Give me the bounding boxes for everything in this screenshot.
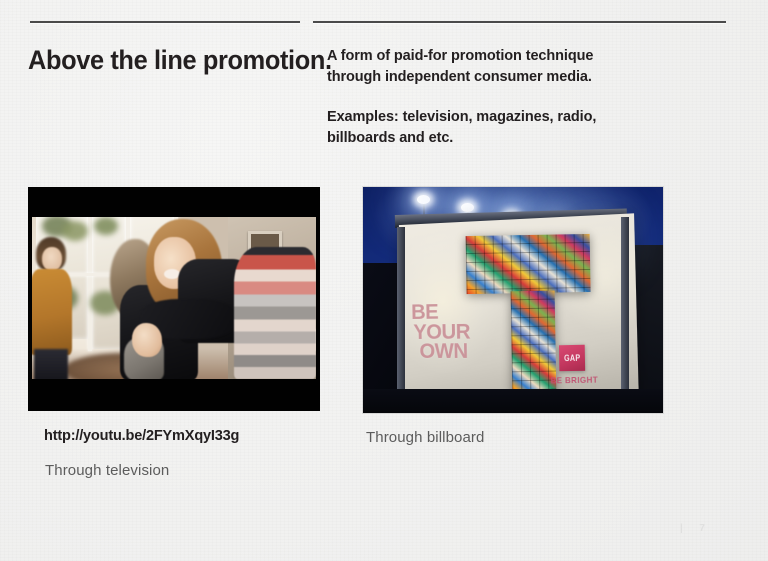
street-ground — [363, 389, 663, 413]
clothing-letter-t — [466, 234, 593, 396]
living-room-scene — [28, 187, 320, 411]
letterbox-bar-bottom — [28, 379, 320, 411]
window-mullion — [88, 205, 92, 351]
page-number: 7 — [699, 523, 705, 534]
body-paragraph-1: A form of paid-for promotion technique t… — [327, 46, 647, 87]
gap-billboard-photo[interactable]: BE YOUR OWN GAP BE BRIGHT CBS — [363, 187, 663, 413]
divider-rule-right — [313, 21, 726, 23]
striped-sweater — [234, 247, 316, 379]
footer-separator: | — [680, 523, 683, 534]
background-woman-face — [42, 247, 62, 271]
letterbox-bar-left — [28, 187, 32, 411]
slide-canvas: Above the line promotion. A form of paid… — [0, 0, 768, 561]
video-url-caption[interactable]: http://youtu.be/2FYmXqyI33g — [44, 427, 239, 444]
body-paragraph-2: Examples: television, magazines, radio, … — [327, 107, 647, 148]
billboard-headline-line-3: OWN — [412, 342, 471, 362]
billboard-support-post — [621, 217, 629, 409]
billboard-headline: BE YOUR OWN — [411, 302, 470, 362]
spotlight-lamp — [417, 195, 430, 204]
letterbox-bar-right — [316, 187, 320, 411]
spotlight-lamp — [461, 203, 474, 212]
television-commercial-still[interactable] — [28, 187, 320, 411]
letter-t-crossbar — [466, 234, 591, 294]
background-woman-cardigan — [30, 269, 72, 355]
foliage — [62, 221, 88, 241]
hand — [132, 323, 162, 357]
gap-logo: GAP — [559, 345, 585, 371]
letter-t-stem — [511, 291, 557, 396]
television-caption: Through television — [45, 462, 169, 479]
billboard-tagline: BE BRIGHT — [551, 375, 599, 386]
billboard-support-post — [397, 227, 405, 407]
background-woman-legs — [34, 349, 68, 381]
page-title: Above the line promotion. — [28, 45, 301, 75]
letterbox-bar-top — [28, 187, 320, 217]
paragraph-spacer — [327, 87, 647, 107]
foliage — [94, 217, 118, 235]
footer-marks: | 7 — [680, 523, 730, 534]
gap-logo-text: GAP — [564, 353, 580, 363]
body-copy: A form of paid-for promotion technique t… — [327, 46, 647, 148]
divider-rule-left — [30, 21, 300, 23]
billboard-caption: Through billboard — [366, 429, 484, 446]
